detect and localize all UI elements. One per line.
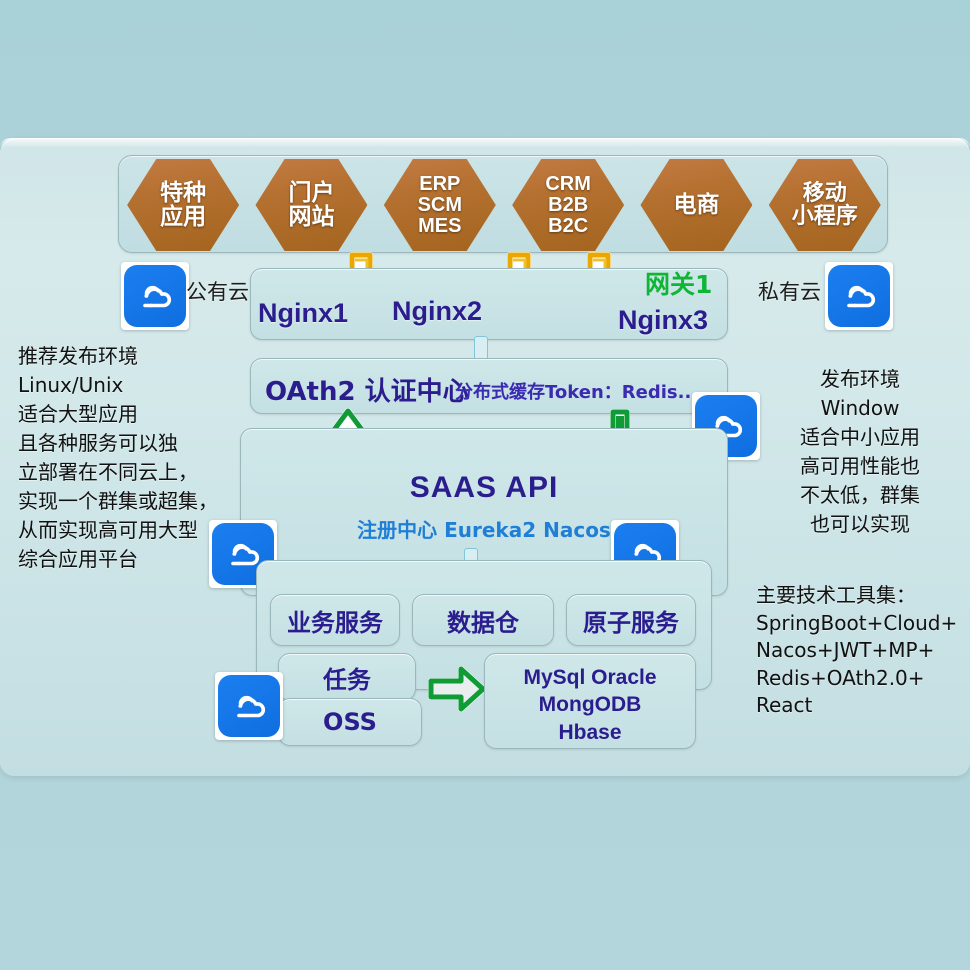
app-hexagon-label: 门户网站 (288, 181, 334, 229)
app-hexagon-label: 电商 (673, 193, 719, 217)
oss-box[interactable]: OSS (278, 698, 422, 746)
cloud-icon-public (121, 262, 189, 330)
app-hexagon-4[interactable]: 电商 (640, 159, 752, 251)
app-hexagon-1[interactable]: 门户网站 (255, 159, 367, 251)
database-label: MySql Oracle MongODB Hbase (485, 664, 695, 746)
database-box[interactable]: MySql Oracle MongODB Hbase (484, 653, 696, 749)
app-hexagon-0[interactable]: 特种应用 (127, 159, 239, 251)
cloud-icon-storage (215, 672, 283, 740)
saas-api-title: SAAS API (241, 471, 727, 505)
oss-label: OSS (323, 708, 377, 736)
service-box-atomic[interactable]: 原子服务 (566, 594, 696, 646)
task-label: 任务 (323, 660, 371, 695)
nginx1-label: Nginx1 (258, 298, 348, 329)
cloud-icon-private (825, 262, 893, 330)
service-label: 数据仓 (447, 603, 519, 638)
service-label: 业务服务 (287, 603, 383, 638)
app-hexagon-2[interactable]: ERPSCMMES (384, 159, 496, 251)
task-box[interactable]: 任务 (278, 653, 416, 701)
public-cloud-label: 公有云 (186, 276, 249, 306)
app-hexagon-3[interactable]: CRMB2BB2C (512, 159, 624, 251)
service-box-business[interactable]: 业务服务 (270, 594, 400, 646)
auth-center-container: OAth2 认证中心 分布式缓存Token：Redis.... (250, 358, 728, 414)
nginx2-label: Nginx2 (392, 296, 482, 327)
nginx3-label: Nginx3 (618, 305, 708, 336)
left-note: 推荐发布环境 Linux/Unix 适合大型应用 且各种服务可以独 立部署在不同… (18, 342, 233, 574)
app-hexagon-label: 移动小程序 (792, 182, 858, 228)
arrow-right-icon-db (428, 664, 486, 719)
diagram-canvas: 特种应用门户网站ERPSCMMESCRMB2BB2C电商移动小程序 Nginx1… (0, 0, 970, 970)
auth-center-title: OAth2 认证中心 (265, 371, 469, 408)
application-hexagon-row: 特种应用门户网站ERPSCMMESCRMB2BB2C电商移动小程序 (119, 156, 889, 254)
gateway1-label: 网关1 (645, 265, 712, 301)
application-layer-container: 特种应用门户网站ERPSCMMESCRMB2BB2C电商移动小程序 (118, 155, 888, 253)
private-cloud-label: 私有云 (758, 276, 821, 306)
token-cache-label: 分布式缓存Token：Redis.... (455, 378, 705, 404)
app-hexagon-label: ERPSCMMES (418, 174, 462, 237)
service-box-datawarehouse[interactable]: 数据仓 (412, 594, 554, 646)
app-hexagon-label: 特种应用 (160, 181, 206, 229)
app-hexagon-label: CRMB2BB2C (545, 174, 591, 237)
right-note: 发布环境 Window 适合中小应用 高可用性能也 不太低，群集 也可以实现 (760, 365, 960, 539)
service-label: 原子服务 (583, 603, 679, 638)
tech-stack-note: 主要技术工具集： SpringBoot+Cloud+ Nacos+JWT+MP+… (756, 582, 966, 720)
app-hexagon-5[interactable]: 移动小程序 (769, 159, 881, 251)
